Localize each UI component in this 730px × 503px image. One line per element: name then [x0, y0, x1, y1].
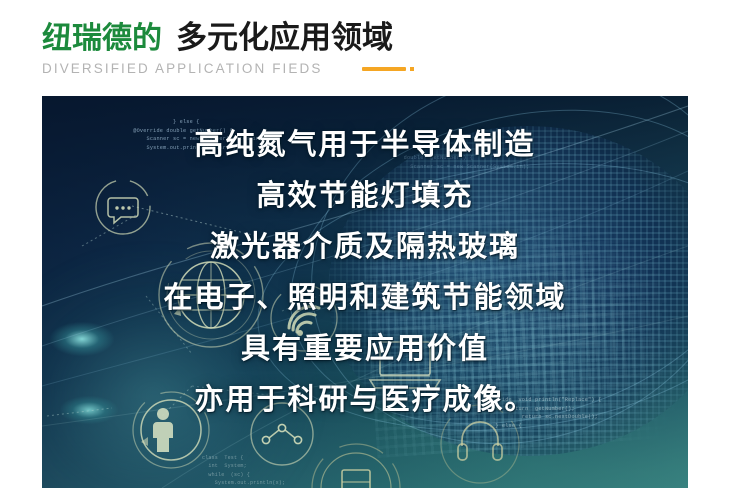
subtitle-row: DIVERSIFIED APPLICATION FIEDS — [42, 61, 690, 76]
hero-line-4: 在电子、照明和建筑节能领域 — [163, 283, 566, 312]
hero-text-block: 高纯氮气用于半导体制造 高效节能灯填充 激光器介质及隔热玻璃 在电子、照明和建筑… — [42, 96, 688, 488]
brand-name: 纽瑞德的 — [42, 24, 162, 54]
hero-line-3: 激光器介质及隔热玻璃 — [210, 232, 520, 261]
hero-line-1: 高纯氮气用于半导体制造 — [194, 130, 535, 159]
accent-bar — [362, 67, 406, 71]
hero-line-2: 高效节能灯填充 — [256, 181, 473, 210]
title-row: 纽瑞德的 多元化应用领域 — [42, 22, 690, 54]
page-title: 多元化应用领域 — [176, 22, 393, 53]
hero-line-5: 具有重要应用价值 — [241, 334, 489, 363]
hero-line-6: 亦用于科研与医疗成像。 — [194, 385, 535, 414]
accent-decoration — [362, 67, 414, 71]
page-header: 纽瑞德的 多元化应用领域 DIVERSIFIED APPLICATION FIE… — [42, 22, 690, 76]
page-subtitle: DIVERSIFIED APPLICATION FIEDS — [42, 61, 322, 76]
hero-banner-image: } else { @Override double getNumber() { … — [42, 96, 688, 488]
accent-dot — [410, 67, 414, 71]
